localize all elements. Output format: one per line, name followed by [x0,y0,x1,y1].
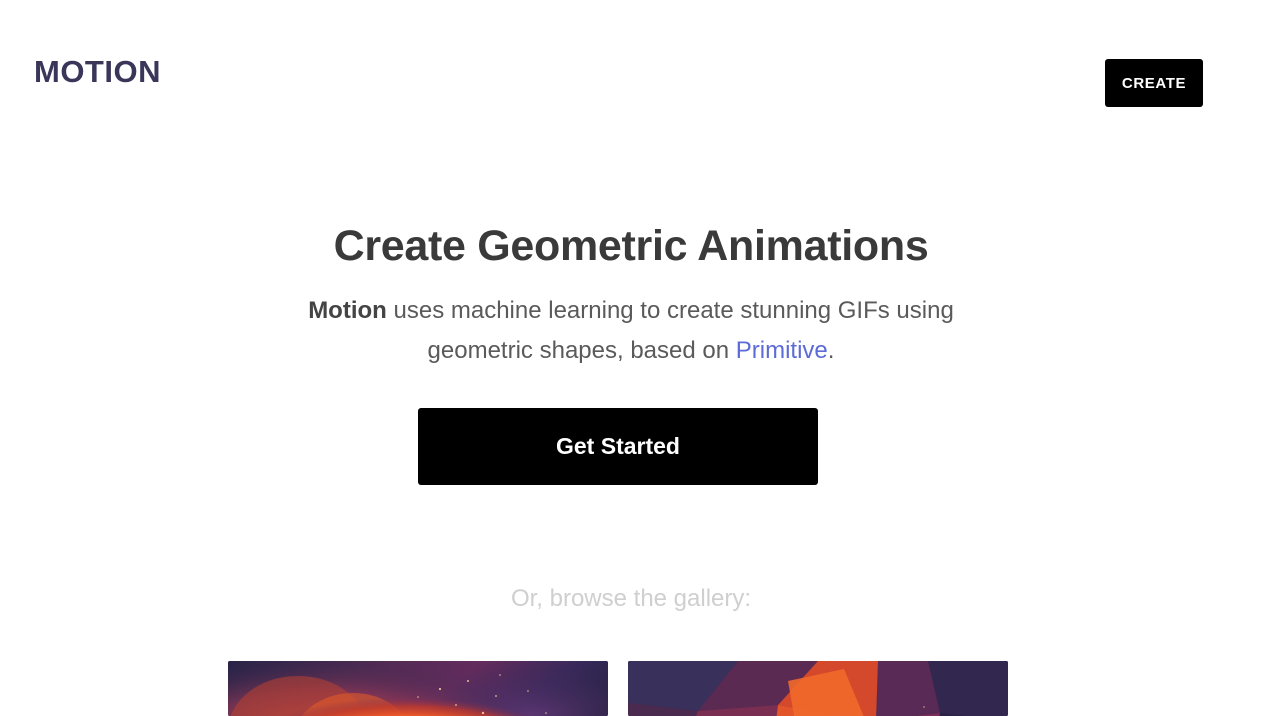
gallery-row [228,661,1034,716]
brand-logo[interactable]: MOTION [34,53,161,91]
primitive-link[interactable]: Primitive [736,337,828,364]
gallery-label: Or, browse the gallery: [0,584,1262,614]
gallery-item-explosion-photo[interactable] [228,661,608,716]
create-button[interactable]: CREATE [1105,59,1203,107]
landing-page: MOTION CREATE Create Geometric Animation… [0,0,1262,716]
explosion-photo-icon [228,661,608,716]
hero-subtitle-text: uses machine learning to create stunning… [387,297,954,364]
hero-subtitle-brand: Motion [308,297,387,324]
hero-subtitle: Motion uses machine learning to create s… [281,291,981,371]
get-started-button[interactable]: Get Started [418,408,818,485]
hero-subtitle-period: . [828,337,835,364]
page-title: Create Geometric Animations [0,219,1262,274]
gallery-item-explosion-geometric[interactable] [628,661,1008,716]
explosion-geometric-icon [628,661,1008,716]
navbar: MOTION CREATE [0,0,1262,142]
